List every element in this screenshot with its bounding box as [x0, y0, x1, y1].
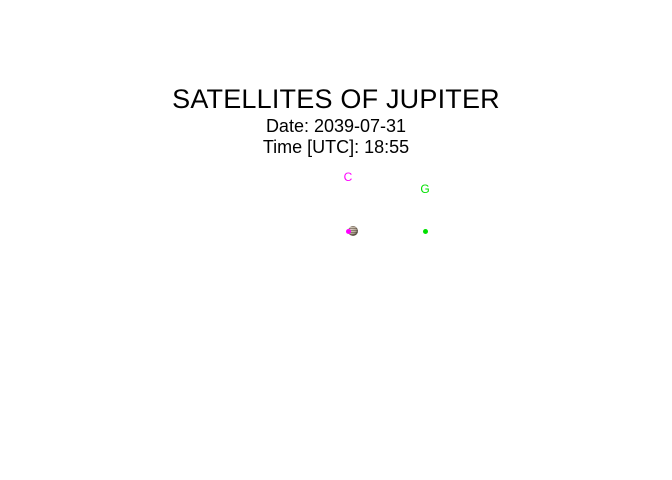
- moon-marker-callisto: [346, 229, 351, 234]
- moon-marker-ganymede: [423, 229, 428, 234]
- moon-label-callisto: C: [344, 171, 353, 183]
- jupiter-satellites-figure: SATELLITES OF JUPITER Date: 2039-07-31 T…: [0, 0, 672, 480]
- sky-plot-area: C G: [0, 0, 672, 480]
- moon-label-ganymede: G: [420, 183, 429, 195]
